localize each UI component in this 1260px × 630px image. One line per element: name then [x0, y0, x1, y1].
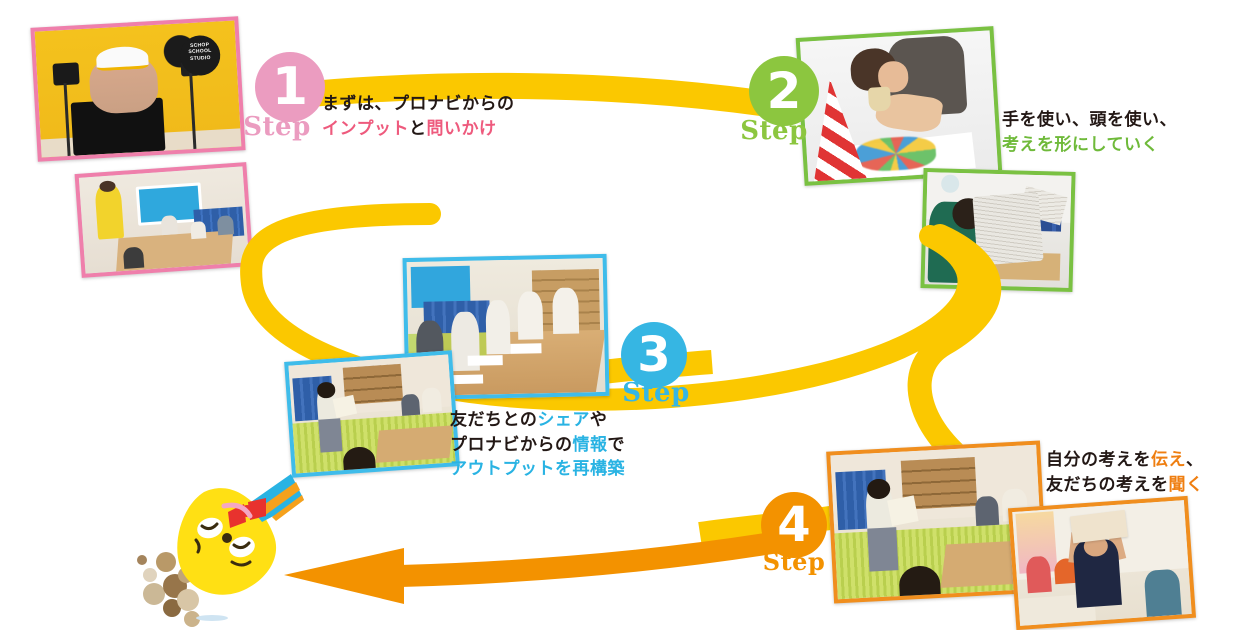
return-arrow-shaft — [400, 538, 802, 576]
photo-newspaper-craft — [920, 168, 1075, 292]
photo-raising-artwork — [1008, 496, 1196, 630]
caption-step-3-line-3: アウトプットを再構築 — [450, 457, 625, 482]
caption-step-2: 手を使い、頭を使い、 考えを形にしていく — [1002, 108, 1177, 157]
photo-classroom-lecture — [75, 162, 254, 278]
caption-step-3: 友だちとのシェアや プロナビからの情報で アウトプットを再構築 — [450, 408, 625, 482]
caption-step-4: 自分の考えを伝え、 友だちの考えを聞く — [1046, 448, 1204, 497]
photo-kids-talking — [284, 350, 460, 477]
caption-step-3-line-1: 友だちとのシェアや — [450, 408, 625, 433]
caption-step-4-line-1: 自分の考えを伝え、 — [1046, 448, 1204, 473]
caption-step-1-line-2: インプットと問いかけ — [322, 117, 515, 142]
step-cycle-diagram: SCHOP SCHOOL STUDIO — [0, 0, 1260, 630]
step-3-caption: Step — [612, 380, 700, 406]
caption-step-2-line-2: 考えを形にしていく — [1002, 133, 1177, 158]
caption-step-1: まずは、プロナビからの インプットと問いかけ — [322, 92, 515, 141]
caption-step-2-line-1: 手を使い、頭を使い、 — [1002, 108, 1177, 133]
step-badge-3[interactable]: 3 Step — [608, 322, 700, 406]
caption-step-4-line-2: 友だちの考えを聞く — [1046, 473, 1204, 498]
caption-step-1-line-1: まずは、プロナビからの — [322, 92, 515, 117]
schop-mascot — [126, 462, 316, 630]
step-badge-4[interactable]: 4 Step — [748, 492, 840, 574]
step-4-caption: Step — [748, 550, 840, 574]
step-2-caption: Step — [718, 118, 830, 144]
photo-studio: SCHOP SCHOOL STUDIO — [30, 16, 245, 161]
step-badge-2[interactable]: 2 Step — [738, 56, 830, 144]
caption-step-3-line-2: プロナビからの情報で — [450, 433, 625, 458]
step-1-caption: Step — [218, 114, 336, 140]
